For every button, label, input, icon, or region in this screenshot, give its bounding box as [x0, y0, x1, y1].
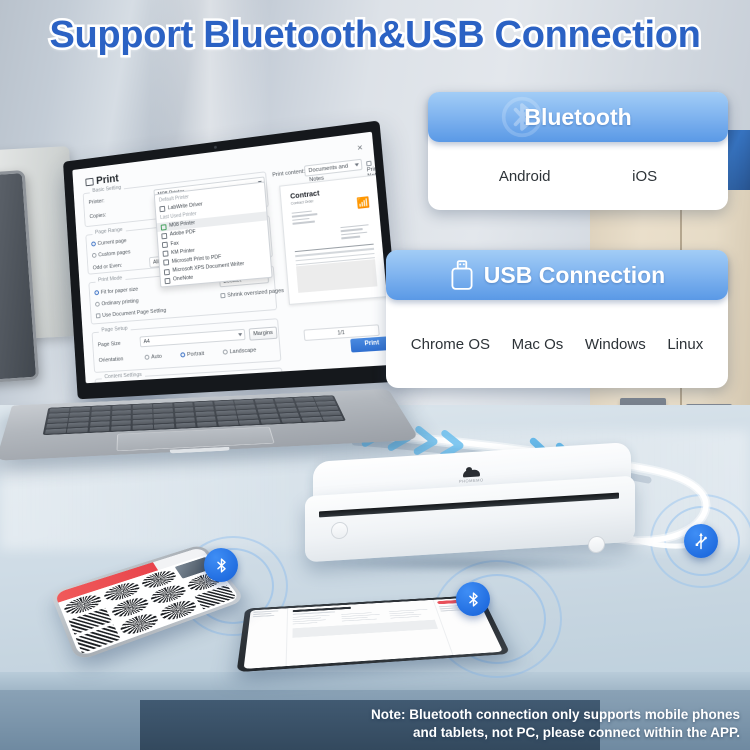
- print-content-label: Print content:: [272, 169, 305, 179]
- radio-icon: [92, 253, 97, 258]
- checkbox-icon: [366, 161, 372, 167]
- printer-icon: [85, 178, 93, 187]
- print-content-select[interactable]: Documents and Notes: [304, 159, 363, 177]
- radio-icon: [94, 290, 99, 295]
- print-mode-legend: Print Mode: [95, 275, 125, 283]
- checkbox-icon: [220, 293, 225, 298]
- platform-chromeos: Chrome OS: [411, 336, 490, 353]
- radio-icon: [91, 241, 96, 246]
- bluetooth-card-header: Bluetooth: [428, 92, 728, 142]
- chevron-down-icon: [238, 333, 242, 336]
- laptop-lid: Print × Basic Setting Printer: M08 Print…: [63, 120, 404, 399]
- document-footer-block: [296, 259, 377, 293]
- usb-drive-icon: [449, 259, 475, 291]
- printer-brand-logo: PHOMEMO: [459, 469, 484, 484]
- usb-card-title: USB Connection: [484, 262, 665, 289]
- radio-icon: [223, 349, 228, 354]
- chevron-down-icon: [355, 163, 359, 167]
- usb-platform-list: Chrome OS Mac Os Windows Linux: [386, 300, 728, 388]
- tablet-sidebar[interactable]: [244, 608, 288, 669]
- laptop-base: [0, 389, 420, 461]
- printer-feed-button[interactable]: [588, 535, 605, 553]
- portable-printer: PHOMEMO: [305, 452, 635, 562]
- printer-icon: [162, 242, 168, 248]
- usb-badge-icon: [684, 524, 718, 558]
- webcam-icon: [214, 146, 217, 149]
- printer-icon: [164, 278, 170, 284]
- brand-mark-icon: [463, 469, 480, 477]
- document-preview: Contract Contract Order 📶: [279, 174, 389, 305]
- page-range-legend: Page Range: [92, 227, 125, 236]
- margins-button[interactable]: Margins: [249, 326, 278, 340]
- close-icon[interactable]: ×: [357, 142, 363, 153]
- product-feature-scene: Support Bluetooth&USB Connection Print ×…: [0, 0, 750, 750]
- headline-banner: Support Bluetooth&USB Connection: [0, 14, 750, 57]
- laptop-keyboard[interactable]: [43, 395, 346, 435]
- bluetooth-badge-phone-icon: [204, 548, 238, 582]
- usb-feature-card: USB Connection Chrome OS Mac Os Windows …: [386, 250, 728, 388]
- page-setup-legend: Page Setup: [99, 325, 131, 333]
- platform-windows: Windows: [585, 336, 646, 353]
- printer-icon: [161, 233, 167, 239]
- platform-linux: Linux: [667, 336, 703, 353]
- platform-ios: iOS: [632, 168, 657, 185]
- laptop-screen: Print × Basic Setting Printer: M08 Print…: [72, 132, 393, 384]
- content-settings-legend: Content Settings: [102, 372, 145, 381]
- disclaimer-note: Note: Bluetooth connection only supports…: [371, 706, 740, 742]
- tablet-document-view: [287, 600, 453, 666]
- radio-icon: [144, 355, 149, 360]
- platform-macos: Mac Os: [512, 336, 564, 353]
- printer-icon: [161, 224, 167, 230]
- platform-android: Android: [499, 168, 551, 185]
- bluetooth-icon: 📶: [356, 197, 370, 210]
- orientation-auto-radio[interactable]: Auto: [144, 354, 162, 361]
- printer-icon: [163, 251, 169, 257]
- zoom-tool-icon[interactable]: ⚙: [382, 233, 393, 246]
- printer-icon: [159, 206, 165, 212]
- usb-card-header: USB Connection: [386, 250, 728, 300]
- bluetooth-feature-card: Bluetooth Android iOS: [428, 92, 728, 210]
- radio-icon: [180, 352, 185, 357]
- printer-icon: [163, 260, 169, 266]
- bluetooth-badge-tablet-icon: [456, 582, 490, 616]
- printer-icon: [164, 269, 170, 275]
- printer-dropdown-list[interactable]: Default Printer LabWrite Driver Last Use…: [154, 181, 273, 287]
- bluetooth-icon: [500, 95, 544, 139]
- page-title: Support Bluetooth&USB Connection: [49, 14, 700, 57]
- checkbox-icon: [96, 313, 101, 318]
- note-line-1: Note: Bluetooth connection only supports…: [371, 706, 740, 724]
- bluetooth-platform-list: Android iOS: [428, 142, 728, 210]
- print-preview-pane: Print content: Documents and Notes Print…: [272, 157, 393, 361]
- radio-icon: [95, 302, 100, 307]
- laptop: Print × Basic Setting Printer: M08 Print…: [18, 140, 418, 470]
- note-line-2: and tablets, not PC, please connect with…: [371, 724, 740, 742]
